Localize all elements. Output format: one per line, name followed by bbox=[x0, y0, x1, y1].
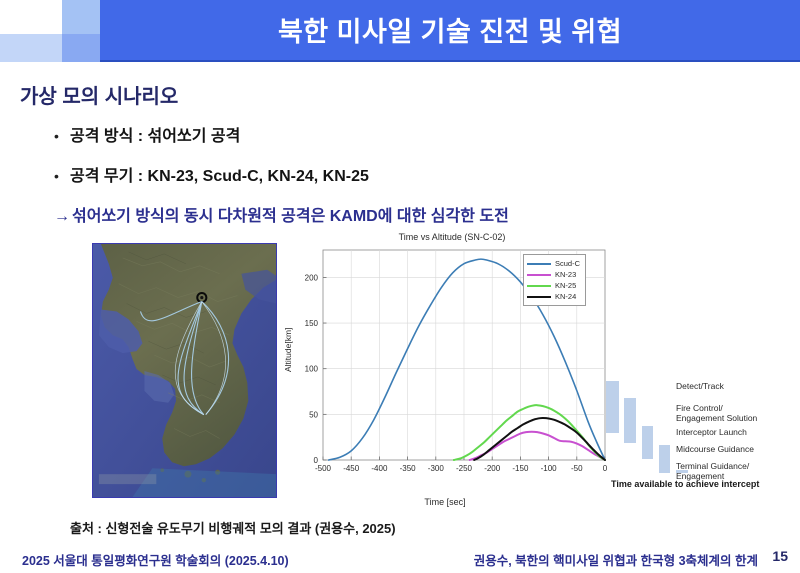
decor-square-3 bbox=[0, 34, 62, 62]
svg-text:150: 150 bbox=[305, 319, 319, 328]
legend-color-swatch bbox=[527, 274, 551, 276]
intercept-timeline-labels: Detect/Track Fire Control/Engagement Sol… bbox=[676, 381, 800, 481]
svg-text:-300: -300 bbox=[428, 464, 445, 473]
time-vs-altitude-chart: Time vs Altitude (SN-C-02) Altitude[km] … bbox=[287, 232, 617, 507]
source-caption: 출처 : 신형전술 유도무기 비행궤적 모의 결과 (권용수, 2025) bbox=[70, 518, 396, 537]
timeline-step-bar bbox=[624, 398, 636, 443]
svg-text:-150: -150 bbox=[512, 464, 529, 473]
timeline-step-bar bbox=[642, 426, 653, 459]
conclusion-text: 섞어쏘기 방식의 동시 다차원적 공격은 KAMD에 대한 심각한 도전 bbox=[72, 202, 509, 226]
legend-item: KN-24 bbox=[527, 291, 580, 302]
bullet-dot-icon: • bbox=[54, 169, 70, 183]
timeline-step-label: Interceptor Launch bbox=[676, 427, 800, 444]
legend-label: KN-24 bbox=[555, 292, 576, 301]
bullet-text: 공격 방식 : 섞어쏘기 공격 bbox=[70, 122, 240, 146]
svg-text:-350: -350 bbox=[400, 464, 417, 473]
svg-text:200: 200 bbox=[305, 273, 319, 282]
page-number: 15 bbox=[772, 548, 788, 564]
timeline-step-label: Detect/Track bbox=[676, 381, 800, 403]
legend-item: KN-25 bbox=[527, 280, 580, 291]
svg-text:-250: -250 bbox=[456, 464, 473, 473]
bullet-list: • 공격 방식 : 섞어쏘기 공격 • 공격 무기 : KN-23, Scud-… bbox=[54, 122, 654, 226]
svg-text:50: 50 bbox=[309, 410, 318, 419]
legend-item: KN-23 bbox=[527, 269, 580, 280]
intercept-note: Time available to achieve intercept bbox=[611, 479, 759, 489]
legend-color-swatch bbox=[527, 296, 551, 298]
page-title: 북한 미사일 기술 진전 및 위협 bbox=[278, 10, 622, 51]
footer-left-text: 2025 서울대 통일평화연구원 학술회의 (2025.4.10) bbox=[22, 550, 289, 569]
slide-header-bar: 북한 미사일 기술 진전 및 위협 bbox=[100, 0, 800, 62]
korean-peninsula-map bbox=[92, 243, 277, 498]
timeline-step-bar bbox=[606, 381, 619, 433]
legend-item: Scud-C bbox=[527, 258, 580, 269]
arrow-right-icon: → bbox=[54, 208, 72, 226]
svg-text:-400: -400 bbox=[371, 464, 388, 473]
svg-text:-500: -500 bbox=[315, 464, 332, 473]
list-item: • 공격 방식 : 섞어쏘기 공격 bbox=[54, 122, 654, 146]
svg-text:-100: -100 bbox=[541, 464, 558, 473]
legend-label: KN-25 bbox=[555, 281, 576, 290]
chart-legend: Scud-C KN-23 KN-25 KN-24 bbox=[523, 254, 586, 306]
svg-text:100: 100 bbox=[305, 365, 319, 374]
slide-root: 북한 미사일 기술 진전 및 위협 가상 모의 시나리오 • 공격 방식 : 섞… bbox=[0, 0, 800, 573]
timeline-step-label: Midcourse Guidance bbox=[676, 444, 800, 461]
map-image bbox=[93, 244, 276, 497]
timeline-step-bar bbox=[659, 445, 670, 473]
legend-color-swatch bbox=[527, 263, 551, 265]
timeline-step-label: Fire Control/Engagement Solution bbox=[676, 403, 800, 427]
legend-label: KN-23 bbox=[555, 270, 576, 279]
bullet-text: 공격 무기 : KN-23, Scud-C, KN-24, KN-25 bbox=[70, 162, 369, 186]
svg-text:0: 0 bbox=[314, 456, 319, 465]
svg-text:-50: -50 bbox=[571, 464, 583, 473]
chart-x-axis-label: Time [sec] bbox=[287, 497, 603, 507]
intercept-timeline-bars bbox=[606, 381, 686, 476]
bullet-dot-icon: • bbox=[54, 129, 70, 143]
legend-label: Scud-C bbox=[555, 259, 580, 268]
conclusion-line: → 섞어쏘기 방식의 동시 다차원적 공격은 KAMD에 대한 심각한 도전 bbox=[54, 202, 654, 226]
section-heading: 가상 모의 시나리오 bbox=[20, 80, 178, 109]
svg-text:-200: -200 bbox=[484, 464, 501, 473]
svg-text:-450: -450 bbox=[343, 464, 360, 473]
footer-right-text: 권용수, 북한의 핵미사일 위협과 한국형 3축체계의 한계 bbox=[474, 550, 758, 569]
legend-color-swatch bbox=[527, 285, 551, 287]
list-item: • 공격 무기 : KN-23, Scud-C, KN-24, KN-25 bbox=[54, 162, 654, 186]
chart-title: Time vs Altitude (SN-C-02) bbox=[287, 232, 617, 242]
